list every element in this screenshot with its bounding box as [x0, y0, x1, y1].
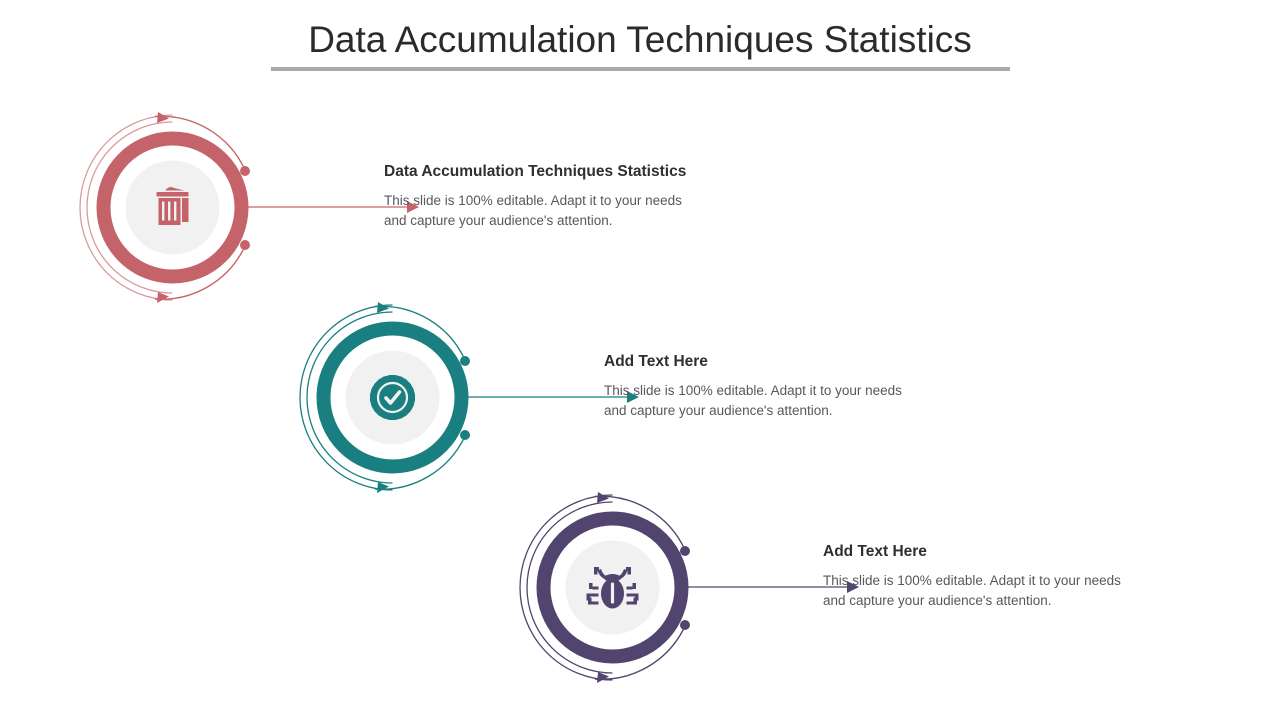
item-heading-3: Add Text Here	[823, 542, 1223, 562]
arc-end-dot-bottom	[460, 430, 470, 440]
arc-end-dot-top	[460, 356, 470, 366]
circle-graphic-3	[515, 490, 710, 685]
title-underline-divider	[271, 67, 1010, 71]
arc-arrow-head-top	[157, 112, 169, 123]
arc-arrow-head-bottom	[377, 482, 389, 493]
page-title: Data Accumulation Techniques Statistics	[0, 17, 1280, 63]
item-body-line-3b: and capture your audience's attention.	[823, 591, 1223, 611]
arc-end-dot-bottom	[240, 240, 250, 250]
circle-graphic-1	[75, 110, 270, 305]
item-body-1: This slide is 100% editable. Adapt it to…	[384, 191, 784, 230]
arc-arrow-head-top	[597, 492, 609, 503]
arc-arrow-head-top	[377, 302, 389, 313]
verified-badge-check-icon	[370, 375, 415, 420]
arc-end-dot-top	[680, 546, 690, 556]
item-body-3: This slide is 100% editable. Adapt it to…	[823, 571, 1223, 610]
arc-arrow-head-bottom	[157, 292, 169, 303]
arc-end-dot-top	[240, 166, 250, 176]
trash-bin-icon	[157, 187, 189, 225]
circle-graphic-2	[295, 300, 490, 495]
text-block-3: Add Text Here This slide is 100% editabl…	[823, 542, 1223, 610]
text-block-2: Add Text Here This slide is 100% editabl…	[604, 352, 1004, 420]
arc-arrow-head-bottom	[597, 672, 609, 683]
item-body-line-1b: and capture your audience's attention.	[384, 211, 784, 231]
item-body-line-2b: and capture your audience's attention.	[604, 401, 1004, 421]
item-body-line-1a: This slide is 100% editable. Adapt it to…	[384, 191, 784, 211]
item-heading-2: Add Text Here	[604, 352, 1004, 372]
text-block-1: Data Accumulation Techniques Statistics …	[384, 162, 784, 230]
item-body-line-2a: This slide is 100% editable. Adapt it to…	[604, 381, 1004, 401]
item-body-line-3a: This slide is 100% editable. Adapt it to…	[823, 571, 1223, 591]
arc-end-dot-bottom	[680, 620, 690, 630]
item-heading-1: Data Accumulation Techniques Statistics	[384, 162, 784, 182]
item-body-2: This slide is 100% editable. Adapt it to…	[604, 381, 1004, 420]
